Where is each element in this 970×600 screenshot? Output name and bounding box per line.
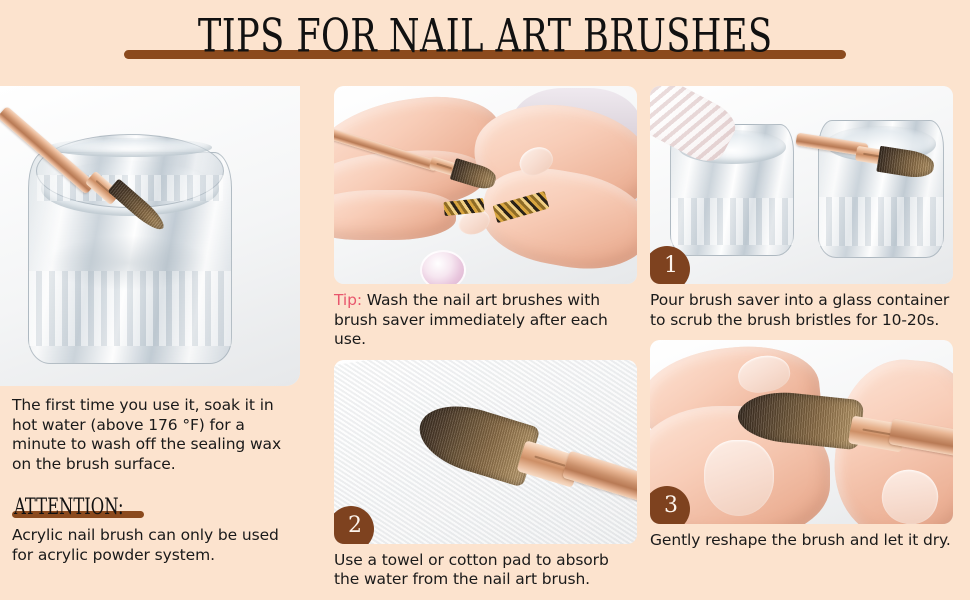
hero-caption: The first time you use it, soak it in ho… <box>0 396 292 474</box>
photo-manicure-gold-foil <box>334 86 637 284</box>
page-header: TIPS FOR NAIL ART BRUSHES <box>0 14 970 62</box>
attention-label: ATTENTION: <box>14 495 123 519</box>
step-2-caption: Use a towel or cotton pad to absorb the … <box>334 551 637 590</box>
middle-column: Tip: Wash the nail art brushes with brus… <box>334 86 637 590</box>
photo-brush-in-glass-dish <box>0 86 300 386</box>
photo-reshape-brush: 3 <box>650 340 953 524</box>
photo-scene <box>650 86 953 284</box>
photo-scene <box>334 360 637 544</box>
photo-scene <box>334 86 637 284</box>
title-wrap: TIPS FOR NAIL ART BRUSHES <box>120 14 850 62</box>
step-1-caption: Pour brush saver into a glass container … <box>650 291 953 330</box>
tip-label: Tip: <box>334 291 362 309</box>
photo-scene <box>0 86 300 386</box>
step-number: 3 <box>664 493 678 518</box>
photo-pour-brush-saver: 1 <box>650 86 953 284</box>
tip-caption: Tip: Wash the nail art brushes with brus… <box>334 291 637 350</box>
glitter-pot-shape <box>420 250 466 284</box>
tip-caption-text: Wash the nail art brushes with brush sav… <box>334 291 608 348</box>
nail-shape <box>704 440 774 516</box>
attention-wrap: ATTENTION: <box>12 496 156 519</box>
step-number: 2 <box>348 513 362 538</box>
photo-scene <box>650 340 953 524</box>
step-3-caption: Gently reshape the brush and let it dry. <box>650 531 953 551</box>
step-number: 1 <box>664 253 678 278</box>
infographic-page: TIPS FOR NAIL ART BRUSHES The first time… <box>0 0 970 600</box>
attention-block: ATTENTION: <box>0 496 300 519</box>
attention-body: Acrylic nail brush can only be used for … <box>0 526 292 565</box>
left-column: The first time you use it, soak it in ho… <box>0 86 300 565</box>
right-column: 1 Pour brush saver into a glass containe… <box>650 86 953 551</box>
photo-brush-on-towel: 2 <box>334 360 637 544</box>
page-title: TIPS FOR NAIL ART BRUSHES <box>198 12 773 62</box>
